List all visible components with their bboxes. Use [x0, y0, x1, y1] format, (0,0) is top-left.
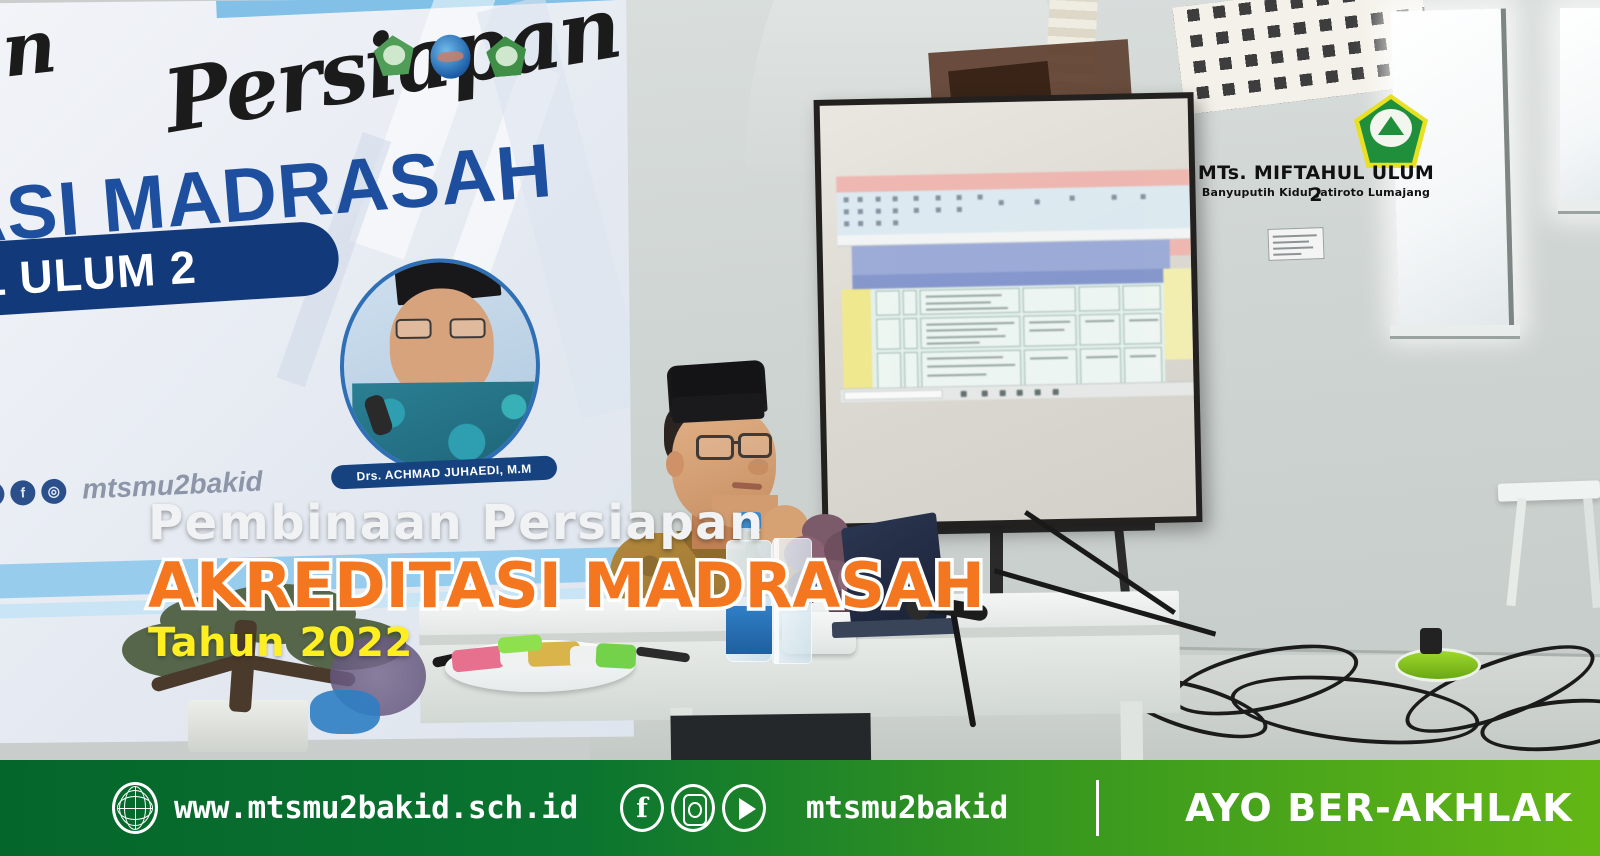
kemenag-logo: [373, 34, 416, 77]
glass-highlight: [774, 538, 779, 664]
window-sill-left: [1390, 325, 1520, 339]
globe-icon: [112, 782, 158, 834]
website-url[interactable]: www.mtsmu2bakid.sch.id: [174, 790, 578, 826]
facebook-icon[interactable]: f: [620, 784, 664, 832]
footer-slogan: AYO BER-AKHLAK: [1185, 786, 1573, 830]
instagram-icon[interactable]: [671, 784, 715, 832]
facebook-icon: f: [10, 479, 36, 505]
mts-miftahul-ulum-logo: [1354, 94, 1428, 168]
school-name: MTs. MIFTAHUL ULUM 2: [1196, 162, 1436, 206]
banner-handle-text: mtsmu2bakid: [82, 465, 264, 505]
footer-divider: [1096, 780, 1099, 836]
banner-script-partial: aan: [0, 3, 61, 106]
youtube-icon: ▸: [0, 481, 5, 507]
table-leg: [1120, 701, 1143, 760]
window-right: [1560, 8, 1600, 208]
spreadsheet-highlight-column: [1163, 269, 1193, 360]
speaker-nose: [748, 459, 768, 475]
speaker-ear: [666, 451, 684, 477]
footer-bar: www.mtsmu2bakid.sch.id f mtsmu2bakid AYO…: [0, 760, 1600, 856]
footer-social-icons: f: [620, 784, 766, 832]
bottle-label: [726, 606, 772, 654]
screenshot-root: aan Persiapan TASI MADRASAH HUL ULUM 2 A…: [0, 0, 1600, 856]
madrasah-logo: [485, 35, 528, 78]
youtube-icon[interactable]: [722, 784, 766, 832]
laptop-screen: [841, 512, 947, 636]
microphone-head: [906, 596, 930, 620]
spreadsheet-ribbon: [836, 185, 1190, 235]
blue-object: [310, 690, 380, 734]
cable-reel-hub: [1420, 628, 1442, 654]
eyeglasses-bridge: [732, 441, 740, 444]
globe-logo: [429, 33, 472, 80]
banner-portrait: [339, 257, 541, 474]
banner-social-row: ▸ f ◎ mtsmu2bakid: [0, 465, 263, 510]
snack-item: [595, 643, 636, 669]
footer-left-group: www.mtsmu2bakid.sch.id f mtsmu2bakid AYO…: [0, 760, 1573, 856]
event-photograph: aan Persiapan TASI MADRASAH HUL ULUM 2 A…: [0, 0, 1600, 760]
instagram-icon: ◎: [41, 478, 67, 504]
spreadsheet-title-right: [1169, 239, 1191, 255]
under-table-dark-area: [670, 713, 871, 760]
social-handle[interactable]: mtsmu2bakid: [806, 790, 1008, 826]
eyeglasses-icon: [738, 433, 772, 458]
peci-cap-brim: [671, 393, 764, 424]
screen-sticker: [1267, 227, 1324, 261]
school-address: Banyuputih Kidul Jatiroto Lumajang: [1196, 186, 1436, 199]
eyeglasses-icon: [696, 435, 734, 460]
window-sill-right: [1558, 200, 1600, 214]
water-bottle: [726, 512, 772, 662]
banner-logos: [373, 24, 537, 97]
school-identity-overlay: MTs. MIFTAHUL ULUM 2 Banyuputih Kidul Ja…: [1196, 104, 1436, 204]
portrait-glasses: [395, 318, 487, 339]
